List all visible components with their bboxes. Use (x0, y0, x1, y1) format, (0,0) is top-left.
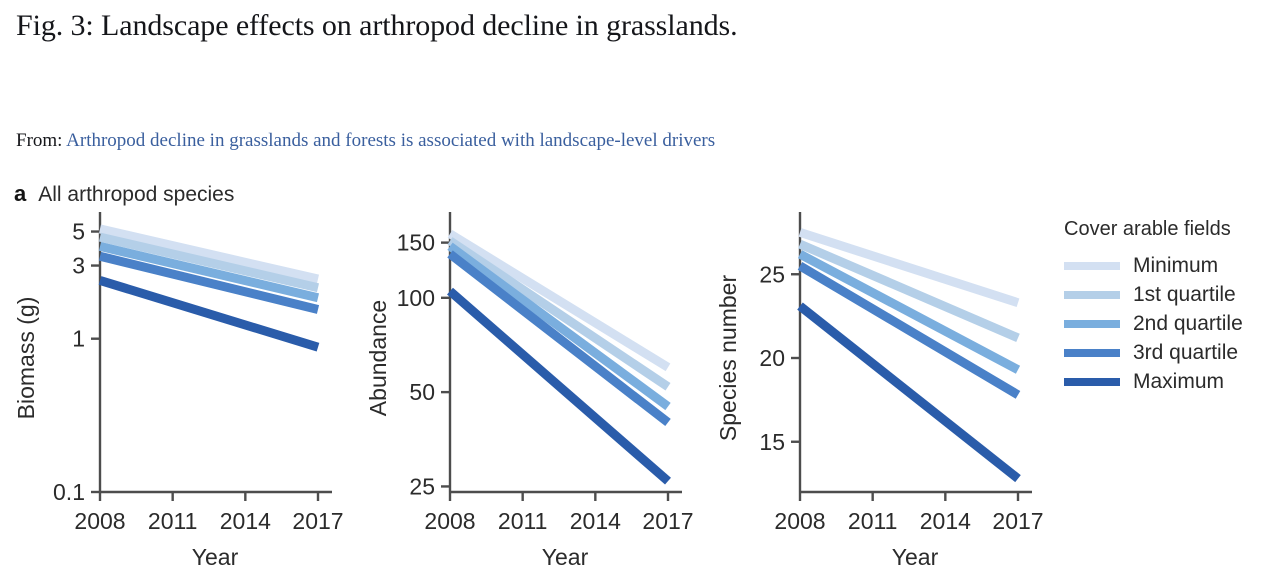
series-line[interactable] (450, 234, 668, 367)
series-group (450, 234, 668, 481)
y-tick-label: 50 (409, 379, 435, 405)
x-tick-label: 2014 (220, 508, 271, 534)
y-tick-label: 1 (72, 326, 85, 352)
legend-items: Minimum1st quartile2nd quartile3rd quart… (1064, 251, 1284, 396)
from-label: From: (16, 130, 62, 151)
x-tick-label: 2014 (920, 508, 971, 534)
x-tick-label: 2008 (74, 508, 125, 534)
y-axis-title: Biomass (g) (13, 297, 39, 420)
y-axis-title: Abundance (365, 300, 391, 416)
figure-page: Fig. 3: Landscape effects on arthropod d… (0, 0, 1286, 577)
y-tick-label: 15 (759, 429, 785, 455)
y-tick-label: 100 (397, 285, 435, 311)
y-tick-label: 3 (72, 253, 85, 279)
axes: 1520252008201120142017YearSpecies number (715, 212, 1044, 570)
y-tick-label: 5 (72, 219, 85, 245)
legend-item-label: Maximum (1133, 370, 1224, 394)
x-tick-label: 2011 (848, 508, 897, 534)
panel-subtitle: All arthropod species (38, 183, 234, 207)
x-tick-label: 2011 (148, 508, 197, 534)
x-tick-label: 2017 (992, 508, 1043, 534)
x-axis-title: Year (542, 544, 589, 570)
x-tick-label: 2017 (642, 508, 693, 534)
legend-color-swatch (1064, 291, 1120, 299)
x-tick-label: 2014 (570, 508, 621, 534)
x-tick-label: 2008 (424, 508, 475, 534)
source-article-link[interactable]: Arthropod decline in grasslands and fore… (66, 130, 715, 151)
y-tick-label: 20 (759, 345, 785, 371)
x-tick-label: 2017 (292, 508, 343, 534)
legend-item-label: Minimum (1133, 254, 1218, 278)
panel-a-header: a All arthropod species (14, 181, 234, 207)
legend-title: Cover arable fields (1064, 218, 1284, 241)
legend-item[interactable]: 3rd quartile (1064, 338, 1284, 367)
figure-title: Fig. 3: Landscape effects on arthropod d… (16, 6, 876, 46)
legend-item-label: 1st quartile (1133, 283, 1236, 307)
y-tick-label: 0.1 (53, 479, 85, 505)
legend-item-label: 2nd quartile (1133, 312, 1243, 336)
y-tick-label: 25 (409, 473, 435, 499)
y-tick-label: 25 (759, 261, 785, 287)
panel-letter: a (14, 181, 26, 207)
legend-item-label: 3rd quartile (1133, 341, 1238, 365)
legend-item[interactable]: Minimum (1064, 251, 1284, 280)
legend: Cover arable fields Minimum1st quartile2… (1064, 218, 1284, 396)
chart-abundance: 25501001502008201120142017YearAbundance (350, 206, 700, 577)
legend-item[interactable]: 2nd quartile (1064, 309, 1284, 338)
legend-color-swatch (1064, 378, 1120, 386)
series-line[interactable] (450, 254, 668, 423)
x-tick-label: 2008 (774, 508, 825, 534)
x-tick-label: 2011 (498, 508, 547, 534)
chart-species: 1520252008201120142017YearSpecies number (700, 206, 1050, 577)
x-axis-title: Year (892, 544, 939, 570)
y-tick-label: 150 (397, 230, 435, 256)
series-group (100, 229, 318, 347)
x-axis-title: Year (192, 544, 239, 570)
legend-color-swatch (1064, 262, 1120, 270)
legend-color-swatch (1064, 320, 1120, 328)
chart-biomass: 0.11352008201120142017YearBiomass (g) (0, 206, 350, 577)
legend-item[interactable]: Maximum (1064, 367, 1284, 396)
legend-item[interactable]: 1st quartile (1064, 280, 1284, 309)
series-group (800, 232, 1018, 478)
y-axis-title: Species number (715, 275, 741, 442)
figure-source: From: Arthropod decline in grasslands an… (16, 130, 715, 153)
legend-color-swatch (1064, 349, 1120, 357)
